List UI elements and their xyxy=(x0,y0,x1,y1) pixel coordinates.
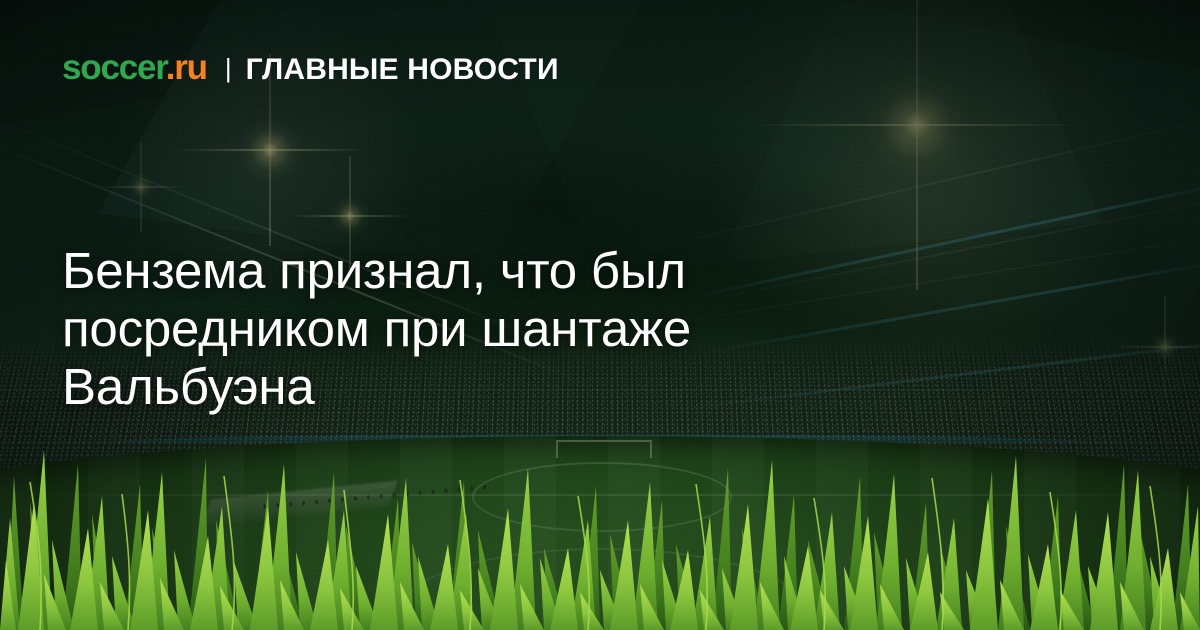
roof-edge-streak xyxy=(640,111,1200,252)
site-header: soccer.ru | ГЛАВНЫЕ НОВОСТИ xyxy=(62,50,559,85)
headline-line: Бензема признал, что был xyxy=(62,242,872,300)
section-kicker: ГЛАВНЫЕ НОВОСТИ xyxy=(246,55,559,85)
foreground-grass xyxy=(0,410,1200,630)
logo-text-soccer: soccer xyxy=(62,48,166,87)
header-separator: | xyxy=(225,55,232,81)
article-headline: Бензема признал, что был посредником при… xyxy=(62,242,872,416)
site-logo[interactable]: soccer.ru xyxy=(62,50,207,85)
light-flare-icon xyxy=(238,118,302,182)
headline-line: Вальбуэна xyxy=(62,358,872,416)
roof-facet xyxy=(98,0,661,264)
logo-text-ru: .ru xyxy=(166,48,207,87)
news-card: soccer.ru | ГЛАВНЫЕ НОВОСТИ Бензема приз… xyxy=(0,0,1200,630)
headline-line: посредником при шантаже xyxy=(62,300,872,358)
light-flare-icon xyxy=(862,70,972,180)
roof-facet xyxy=(458,0,1103,276)
light-flare-icon xyxy=(126,172,156,202)
light-flare-icon xyxy=(330,196,370,236)
